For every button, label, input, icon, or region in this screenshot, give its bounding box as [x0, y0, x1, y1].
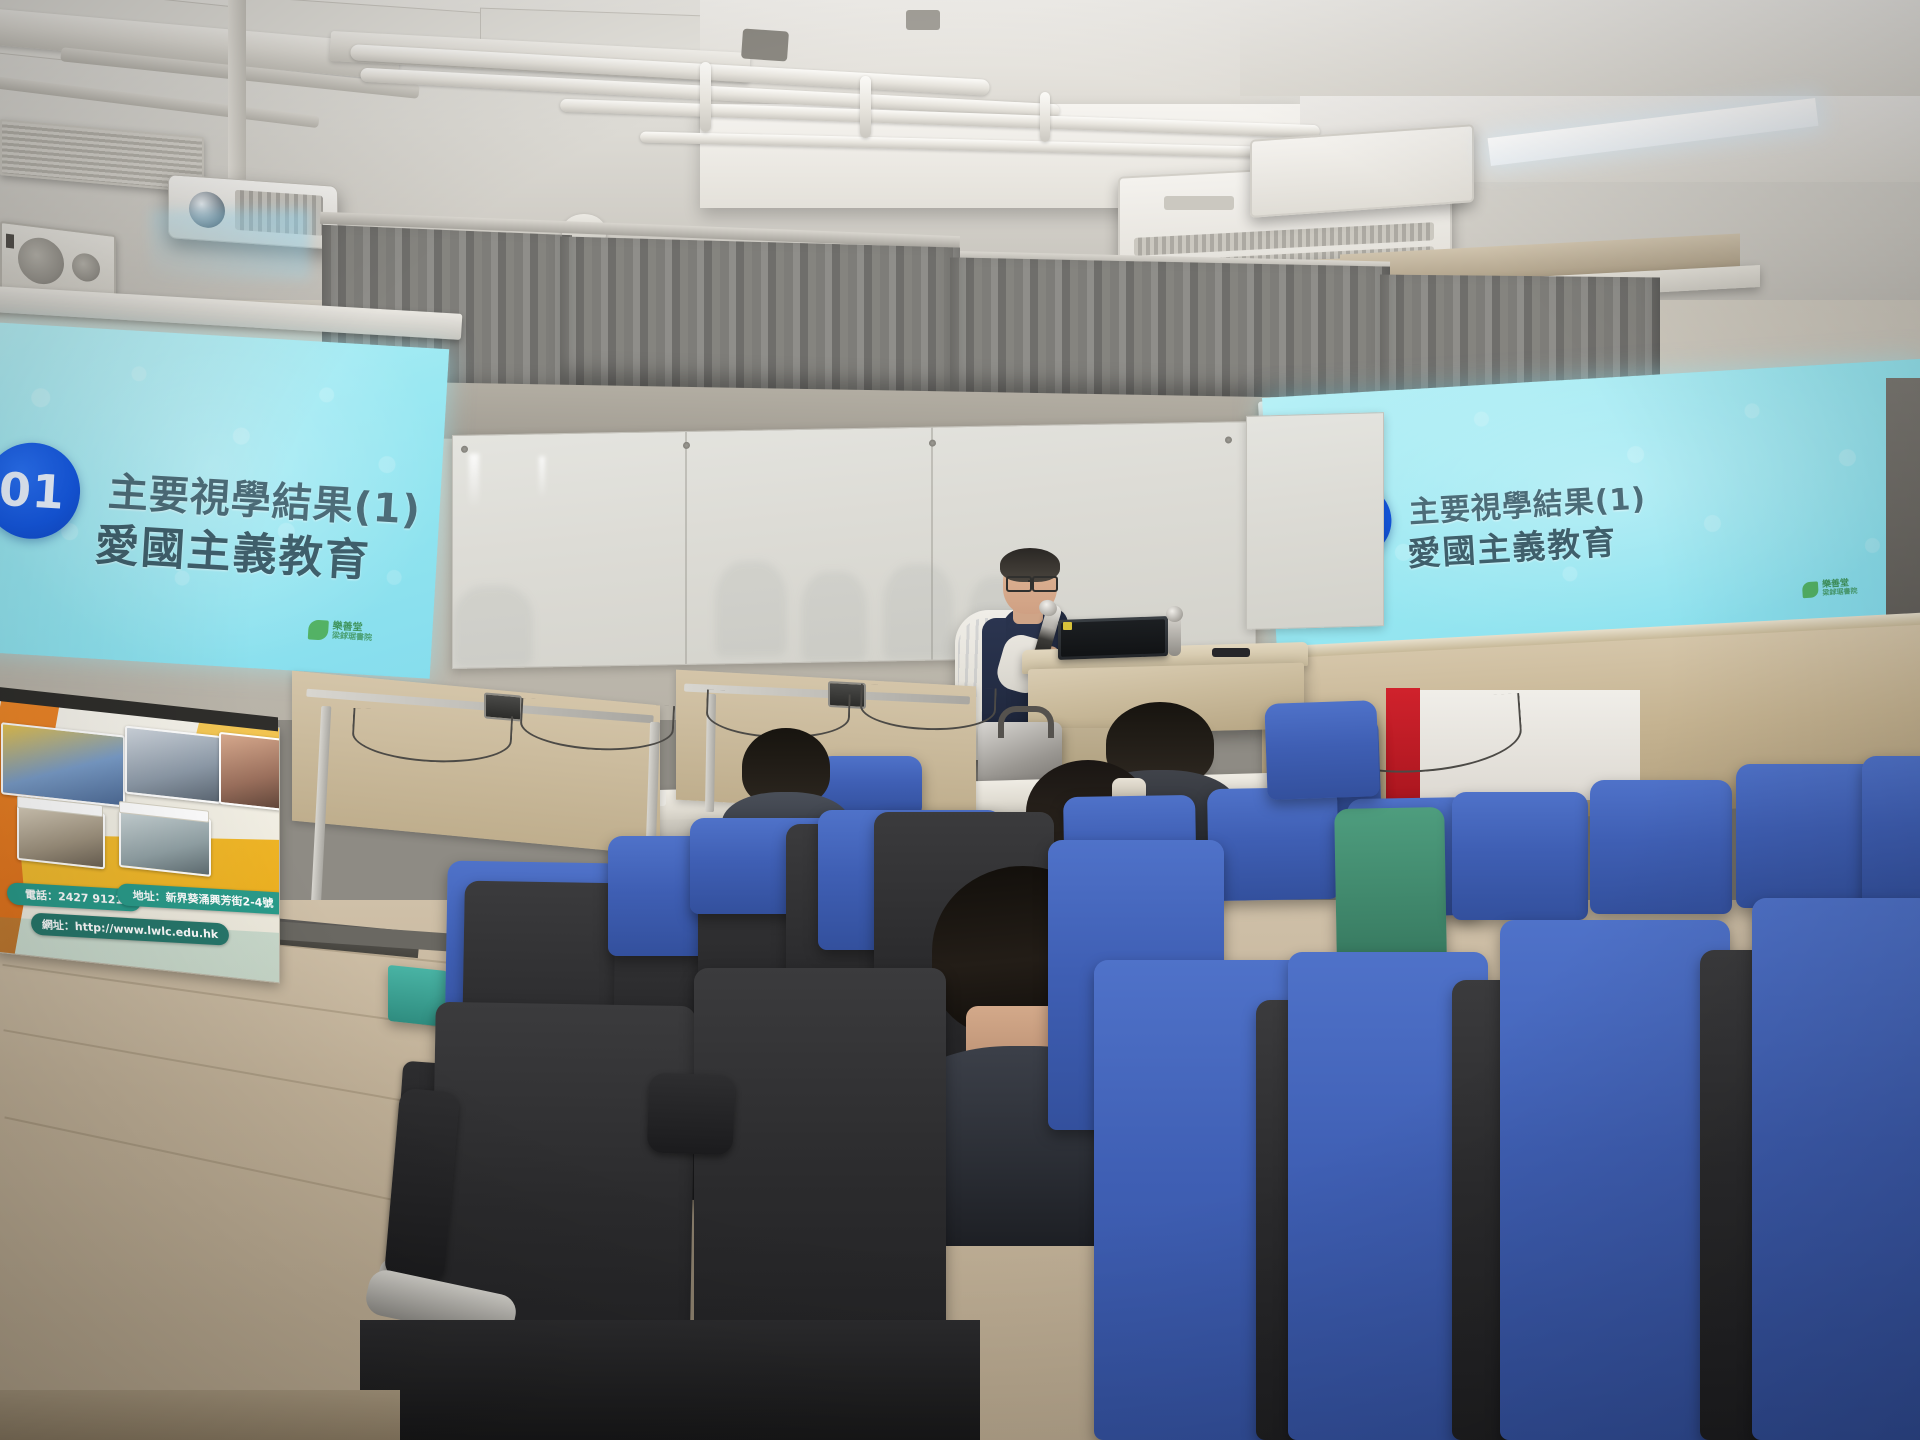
ceiling-slab [1240, 0, 1920, 96]
presenter-laptop[interactable] [1058, 616, 1168, 660]
slide-logo-line2-left: 梁銶琚書院 [332, 632, 372, 643]
presenter-remote[interactable] [1212, 648, 1250, 657]
projector-mount-arm [228, 0, 246, 180]
whiteboard [1246, 412, 1384, 630]
slide-logo-right: 樂善堂 梁銶琚書院 [1802, 579, 1858, 599]
podium-microphone-head [1166, 606, 1183, 622]
chair[interactable] [1862, 756, 1920, 906]
whiteboard-reflection [469, 454, 479, 508]
whiteboard-reflection-figure [883, 563, 953, 660]
speaker-label [6, 234, 14, 249]
whiteboard-reflection-figure [715, 560, 787, 657]
laptop-indicator [1063, 622, 1072, 630]
poster-photo [219, 732, 280, 811]
poster-phone-value: 2427 9121 [58, 890, 124, 907]
whiteboard-screw [1225, 436, 1232, 443]
poster-website-value: http://www.lwlc.edu.hk [74, 919, 218, 940]
whiteboard-screw [461, 446, 468, 453]
chair[interactable] [1500, 920, 1730, 1440]
poster-photo [125, 726, 221, 804]
whiteboard-seam [685, 432, 687, 664]
ac-diffuser [1164, 196, 1234, 210]
whiteboard-reflection-figure [453, 585, 533, 668]
pipe-drop [1040, 92, 1050, 142]
whiteboard-screw [683, 442, 690, 449]
poster-address-value: 新界葵涌興芳街2-4號 [165, 889, 274, 911]
speaker-cone [72, 252, 100, 283]
whiteboard-screw [929, 440, 936, 447]
poster-phone-label: 電話： [25, 886, 59, 904]
information-poster: 電話：2427 9121 地址：新界葵涌興芳街2-4號 網址：http://ww… [0, 697, 280, 984]
presenter-glasses [1006, 576, 1032, 592]
chair[interactable] [1752, 898, 1920, 1440]
poster-website-label: 網址： [41, 916, 75, 934]
presenter-glasses-bridge [1028, 580, 1033, 582]
laptop-screen [1061, 619, 1165, 657]
presenter-glasses [1032, 576, 1058, 592]
projection-screen-left[interactable]: 01 主要視學結果(1) 愛國主義教育 樂善堂 梁銶琚書院 [0, 322, 449, 679]
bag-handle [998, 706, 1054, 738]
whiteboard-reflection-figure [801, 571, 867, 662]
leaf-icon [1802, 582, 1819, 599]
slide-logo-left: 樂善堂 梁銶琚書院 [308, 619, 373, 643]
pipe-drop [860, 76, 871, 138]
chair[interactable] [1452, 792, 1588, 920]
leaf-icon [308, 619, 329, 640]
chair[interactable] [1264, 700, 1379, 800]
chair-armrest [647, 1073, 736, 1156]
pipe-drop [700, 62, 711, 132]
speaker-cone [18, 235, 64, 287]
window-curtain [950, 257, 1390, 404]
whiteboard-reflection [539, 456, 545, 498]
foreground-chair-mass [360, 1320, 980, 1440]
chair[interactable] [1207, 787, 1339, 901]
poster-photo [1, 722, 125, 807]
sprinkler-head [741, 28, 789, 61]
projector-light-beam [150, 210, 310, 280]
poster-address-label: 地址： [132, 887, 166, 905]
sprinkler-head [906, 10, 940, 30]
foreground-chair-mass [0, 1390, 400, 1440]
chair[interactable] [1590, 780, 1732, 914]
lecture-hall-photo: 01 主要視學結果(1) 愛國主義教育 樂善堂 梁銶琚書院 01 主要視學結果(… [0, 0, 1920, 1440]
air-conditioner-unit [1250, 124, 1474, 218]
window-curtain [560, 236, 960, 397]
